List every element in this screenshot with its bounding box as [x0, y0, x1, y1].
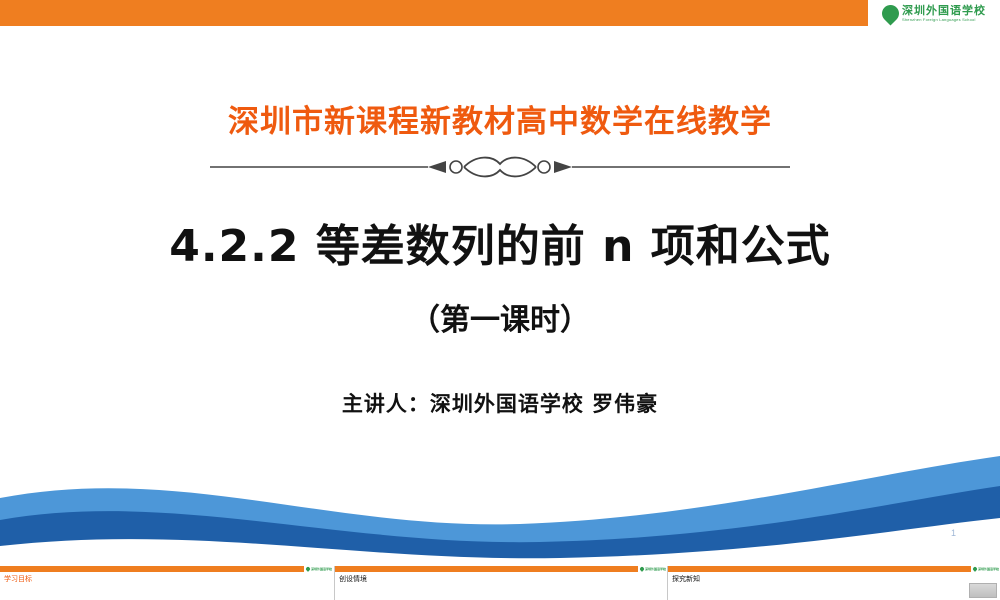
lesson-subtitle: （第一课时） — [0, 295, 1000, 339]
thumb-logo-3: 深圳外国语学校 — [971, 566, 1000, 572]
thumb-logo-1: 深圳外国语学校 — [304, 566, 334, 572]
thumb-logo-2: 深圳外国语学校 — [638, 566, 668, 572]
lesson-title: 4.2.2 等差数列的前 n 项和公式 — [0, 210, 1000, 274]
ornament-divider — [200, 152, 800, 182]
thumbnail-2[interactable]: 深圳外国语学校 创设情境 — [334, 566, 668, 600]
logo-name-en: Shenzhen Foreign Languages School — [902, 18, 986, 22]
slide-page-number: 1 — [951, 528, 956, 538]
thumbnail-1[interactable]: 深圳外国语学校 学习目标 — [0, 566, 334, 600]
leaf-icon — [878, 1, 902, 25]
thumb-title-2: 创设情境 — [339, 574, 367, 584]
leaf-icon — [639, 566, 645, 572]
slide-top-bar — [0, 0, 1000, 26]
slide-viewer: 深圳外国语学校 Shenzhen Foreign Languages Schoo… — [0, 0, 1000, 600]
slide-filmstrip: 深圳外国语学校 学习目标 深圳外国语学校 创设情境 深圳外国语学校 探究新知 — [0, 566, 1000, 600]
thumb-logo-text: 深圳外国语学校 — [311, 567, 332, 571]
presenter-line: 主讲人：深圳外国语学校 罗伟豪 — [0, 388, 1000, 418]
logo-name-cn: 深圳外国语学校 — [902, 5, 986, 16]
thumb-logo-text: 深圳外国语学校 — [645, 567, 666, 571]
wave-decoration — [0, 446, 1000, 566]
leaf-icon — [305, 566, 311, 572]
thumb-title-1: 学习目标 — [4, 574, 32, 584]
thumb-title-3: 探究新知 — [672, 574, 700, 584]
page-title: 深圳市新课程新教材高中数学在线教学 — [0, 96, 1000, 141]
thumbnail-3[interactable]: 深圳外国语学校 探究新知 — [667, 566, 1000, 600]
leaf-icon — [972, 566, 978, 572]
thumb-image-placeholder — [969, 583, 997, 598]
thumb-logo-text: 深圳外国语学校 — [978, 567, 999, 571]
school-logo: 深圳外国语学校 Shenzhen Foreign Languages Schoo… — [868, 0, 1000, 26]
slide-canvas: 深圳外国语学校 Shenzhen Foreign Languages Schoo… — [0, 0, 1000, 566]
